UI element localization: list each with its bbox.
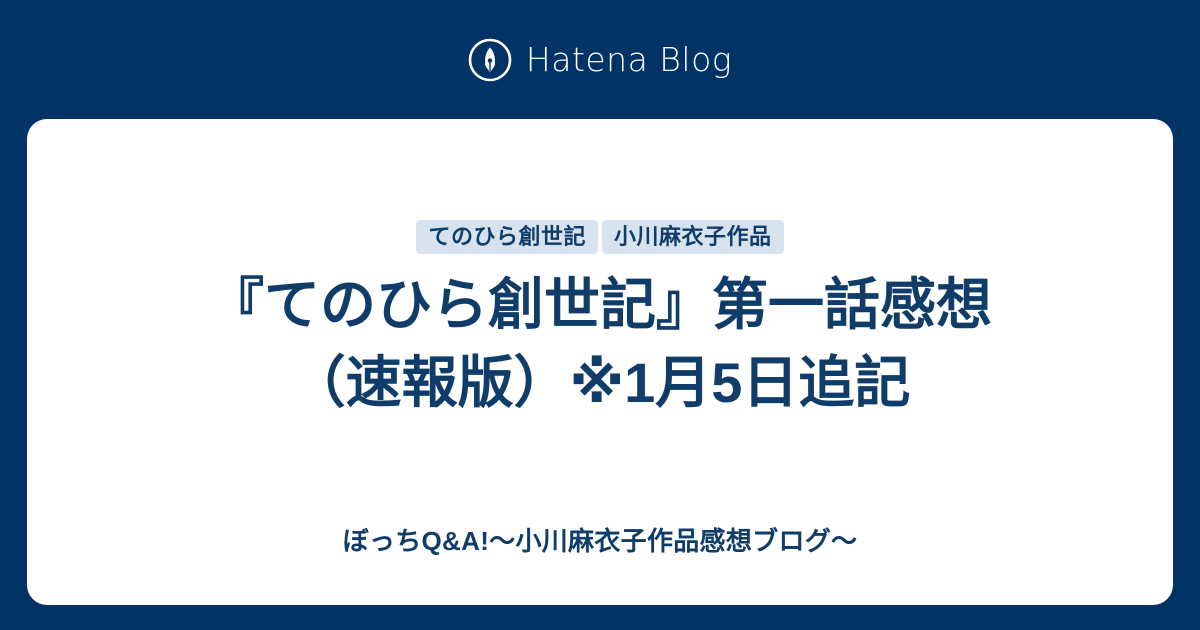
tag-item[interactable]: 小川麻衣子作品 (602, 220, 784, 254)
hatena-pen-nib-icon (468, 38, 512, 82)
entry-title: 『てのひら創世記』第一話感想 （速報版）※1月5日追記 (208, 266, 992, 422)
hatena-blog-og-card: Hatena Blog てのひら創世記 小川麻衣子作品 『てのひら創世記』第一話… (0, 0, 1200, 630)
hatena-brand-header: Hatena Blog (0, 0, 1200, 119)
tag-item[interactable]: てのひら創世記 (416, 220, 598, 254)
hatena-brand-name: Hatena Blog (526, 43, 732, 76)
blog-name[interactable]: ぼっちQ&A!〜小川麻衣子作品感想ブログ〜 (343, 526, 858, 557)
entry-title-line: （速報版）※1月5日追記 (208, 344, 992, 422)
entry-card: てのひら創世記 小川麻衣子作品 『てのひら創世記』第一話感想 （速報版）※1月5… (27, 119, 1173, 605)
entry-title-line: 『てのひら創世記』第一話感想 (208, 266, 992, 344)
tag-list: てのひら創世記 小川麻衣子作品 (416, 220, 783, 254)
